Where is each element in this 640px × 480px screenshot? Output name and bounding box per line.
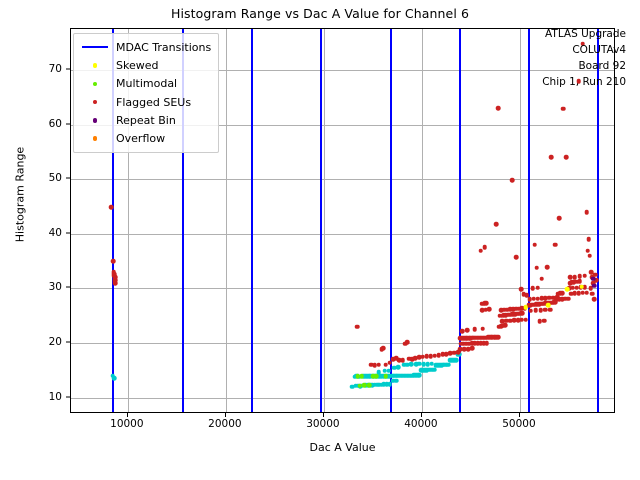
y-tick-label: 10 bbox=[4, 391, 62, 403]
scatter-point-flagged-seus bbox=[576, 79, 581, 84]
legend-key-dot bbox=[78, 136, 112, 140]
scatter-point-flagged-seus bbox=[580, 41, 585, 46]
scatter-point-skewed bbox=[565, 287, 570, 292]
y-tick-label: 50 bbox=[4, 172, 62, 184]
scatter-point-flagged-seus bbox=[586, 237, 591, 242]
y-tick-label: 30 bbox=[4, 281, 62, 293]
y-tick-label: 60 bbox=[4, 118, 62, 130]
x-tick-label: 10000 bbox=[110, 418, 143, 430]
scatter-point-base-points bbox=[447, 363, 452, 368]
legend-dot-icon bbox=[93, 136, 97, 140]
scatter-point-multimodal bbox=[359, 374, 364, 379]
y-tick-mark bbox=[66, 232, 70, 233]
scatter-point-flagged-seus bbox=[494, 222, 499, 227]
scatter-point-flagged-seus bbox=[534, 265, 539, 270]
gridline-horizontal bbox=[71, 234, 614, 235]
chart-title: Histogram Range vs Dac A Value for Chann… bbox=[0, 6, 640, 21]
scatter-point-flagged-seus bbox=[533, 308, 538, 313]
x-tick-mark bbox=[421, 413, 422, 417]
legend-key-dot bbox=[78, 63, 112, 67]
scatter-point-base-points bbox=[386, 369, 391, 374]
y-tick-label: 70 bbox=[4, 63, 62, 75]
scatter-point-multimodal bbox=[374, 374, 379, 379]
legend-key-dot bbox=[78, 82, 112, 86]
mdac-transition-line bbox=[528, 29, 530, 412]
scatter-point-multimodal bbox=[362, 383, 367, 388]
x-tick-label: 40000 bbox=[404, 418, 437, 430]
scatter-point-flagged-seus bbox=[520, 311, 525, 316]
x-tick-mark bbox=[323, 413, 324, 417]
scatter-point-flagged-seus bbox=[470, 346, 475, 351]
scatter-point-repeat-bin bbox=[591, 276, 596, 281]
scatter-point-skewed bbox=[524, 305, 529, 310]
scatter-point-flagged-seus bbox=[528, 308, 533, 313]
scatter-point-flagged-seus bbox=[484, 341, 489, 346]
y-tick-mark bbox=[66, 396, 70, 397]
scatter-point-flagged-seus bbox=[514, 255, 519, 260]
scatter-point-flagged-seus bbox=[524, 317, 529, 322]
scatter-point-repeat-bin bbox=[592, 283, 597, 288]
legend-dot-icon bbox=[93, 82, 97, 86]
scatter-point-flagged-seus bbox=[592, 297, 597, 302]
legend-label: MDAC Transitions bbox=[112, 41, 211, 54]
scatter-point-base-points bbox=[409, 362, 414, 367]
scatter-point-flagged-seus bbox=[557, 216, 562, 221]
legend-dot-icon bbox=[93, 63, 97, 67]
y-axis-label: Histogram Range bbox=[14, 105, 27, 285]
y-tick-mark bbox=[66, 68, 70, 69]
x-tick-label: 50000 bbox=[502, 418, 535, 430]
scatter-point-flagged-seus bbox=[482, 245, 487, 250]
mdac-transition-line bbox=[251, 29, 253, 412]
legend-key-dot bbox=[78, 118, 112, 122]
scatter-point-flagged-seus bbox=[111, 259, 116, 264]
scatter-point-flagged-seus bbox=[532, 242, 537, 247]
scatter-point-flagged-seus bbox=[568, 275, 573, 280]
y-tick-label: 20 bbox=[4, 336, 62, 348]
scatter-point-base-points bbox=[432, 367, 437, 372]
y-tick-label: 40 bbox=[4, 227, 62, 239]
y-tick-mark bbox=[66, 178, 70, 179]
scatter-point-flagged-seus bbox=[480, 327, 485, 332]
gridline-vertical bbox=[520, 29, 521, 412]
scatter-point-flagged-seus bbox=[376, 363, 381, 368]
x-axis-label: Dac A Value bbox=[70, 441, 615, 454]
legend-label: Overflow bbox=[112, 132, 165, 145]
scatter-point-flagged-seus bbox=[355, 324, 360, 329]
gridline-horizontal bbox=[71, 179, 614, 180]
x-tick-mark bbox=[519, 413, 520, 417]
legend-label: Flagged SEUs bbox=[112, 96, 191, 109]
scatter-point-flagged-seus bbox=[519, 287, 524, 292]
scatter-point-flagged-seus bbox=[548, 307, 553, 312]
scatter-point-flagged-seus bbox=[460, 329, 465, 334]
scatter-point-base-points bbox=[394, 378, 399, 383]
scatter-point-flagged-seus bbox=[566, 296, 571, 301]
scatter-point-base-points bbox=[396, 365, 401, 370]
y-tick-mark bbox=[66, 287, 70, 288]
scatter-point-flagged-seus bbox=[473, 327, 478, 332]
scatter-point-multimodal bbox=[357, 383, 362, 388]
scatter-point-flagged-seus bbox=[587, 253, 592, 258]
scatter-point-flagged-seus bbox=[584, 210, 589, 215]
scatter-point-flagged-seus bbox=[539, 276, 544, 281]
scatter-point-flagged-seus bbox=[109, 205, 114, 210]
legend-item[interactable]: MDAC Transitions bbox=[78, 38, 211, 56]
scatter-point-multimodal bbox=[367, 383, 372, 388]
scatter-point-flagged-seus bbox=[577, 279, 582, 284]
y-tick-mark bbox=[66, 342, 70, 343]
scatter-point-flagged-seus bbox=[560, 291, 565, 296]
gridline-vertical bbox=[324, 29, 325, 412]
scatter-point-flagged-seus bbox=[401, 358, 406, 363]
scatter-point-flagged-seus bbox=[543, 307, 548, 312]
mdac-transition-line bbox=[390, 29, 392, 412]
scatter-point-flagged-seus bbox=[585, 248, 590, 253]
gridline-horizontal bbox=[71, 398, 614, 399]
scatter-point-base-points bbox=[429, 361, 434, 366]
scatter-point-flagged-seus bbox=[573, 275, 578, 280]
scatter-point-flagged-seus bbox=[582, 274, 587, 279]
y-tick-mark bbox=[66, 123, 70, 124]
scatter-point-flagged-seus bbox=[530, 286, 535, 291]
scatter-point-flagged-seus bbox=[496, 106, 501, 111]
legend-item[interactable]: Multimodal bbox=[78, 75, 211, 93]
scatter-point-flagged-seus bbox=[496, 335, 501, 340]
scatter-point-flagged-seus bbox=[584, 290, 589, 295]
scatter-point-flagged-seus bbox=[484, 301, 489, 306]
scatter-point-flagged-seus bbox=[590, 292, 595, 297]
legend-key-line bbox=[78, 46, 112, 48]
chart-figure: Histogram Range vs Dac A Value for Chann… bbox=[0, 0, 640, 480]
scatter-point-base-points bbox=[112, 376, 117, 381]
scatter-point-flagged-seus bbox=[549, 155, 554, 160]
x-tick-label: 30000 bbox=[306, 418, 339, 430]
scatter-point-flagged-seus bbox=[487, 307, 492, 312]
legend-item[interactable]: Skewed bbox=[78, 56, 211, 74]
gridline-vertical bbox=[226, 29, 227, 412]
scatter-point-flagged-seus bbox=[381, 346, 386, 351]
scatter-point-flagged-seus bbox=[561, 106, 566, 111]
gridline-horizontal bbox=[71, 343, 614, 344]
scatter-point-base-points bbox=[417, 361, 422, 366]
chart-legend[interactable]: MDAC TransitionsSkewedMultimodalFlagged … bbox=[73, 33, 219, 153]
legend-line-icon bbox=[82, 46, 108, 48]
mdac-transition-line bbox=[597, 29, 599, 412]
scatter-point-base-points bbox=[417, 373, 422, 378]
scatter-point-flagged-seus bbox=[113, 275, 118, 280]
legend-item[interactable]: Overflow bbox=[78, 129, 211, 147]
legend-label: Skewed bbox=[112, 59, 158, 72]
legend-label: Repeat Bin bbox=[112, 114, 176, 127]
legend-label: Multimodal bbox=[112, 77, 177, 90]
scatter-point-multimodal bbox=[383, 374, 388, 379]
scatter-point-flagged-seus bbox=[510, 178, 515, 183]
legend-item[interactable]: Repeat Bin bbox=[78, 111, 211, 129]
scatter-point-flagged-seus bbox=[553, 242, 558, 247]
scatter-point-flagged-seus bbox=[535, 286, 540, 291]
scatter-point-flagged-seus bbox=[564, 155, 569, 160]
legend-item[interactable]: Flagged SEUs bbox=[78, 93, 211, 111]
legend-key-dot bbox=[78, 100, 112, 104]
mdac-transition-line bbox=[320, 29, 322, 412]
scatter-point-flagged-seus bbox=[542, 318, 547, 323]
scatter-point-flagged-seus bbox=[577, 274, 582, 279]
scatter-point-skewed bbox=[546, 303, 551, 308]
scatter-point-skewed bbox=[579, 284, 584, 289]
scatter-point-flagged-seus bbox=[537, 319, 542, 324]
x-tick-mark bbox=[225, 413, 226, 417]
scatter-point-flagged-seus bbox=[405, 340, 410, 345]
legend-dot-icon bbox=[93, 118, 97, 122]
scatter-point-flagged-seus bbox=[465, 328, 470, 333]
scatter-point-flagged-seus bbox=[545, 265, 550, 270]
x-tick-mark bbox=[127, 413, 128, 417]
x-tick-label: 20000 bbox=[208, 418, 241, 430]
scatter-point-flagged-seus bbox=[538, 308, 543, 313]
scatter-point-base-points bbox=[454, 358, 459, 363]
legend-dot-icon bbox=[93, 100, 97, 104]
